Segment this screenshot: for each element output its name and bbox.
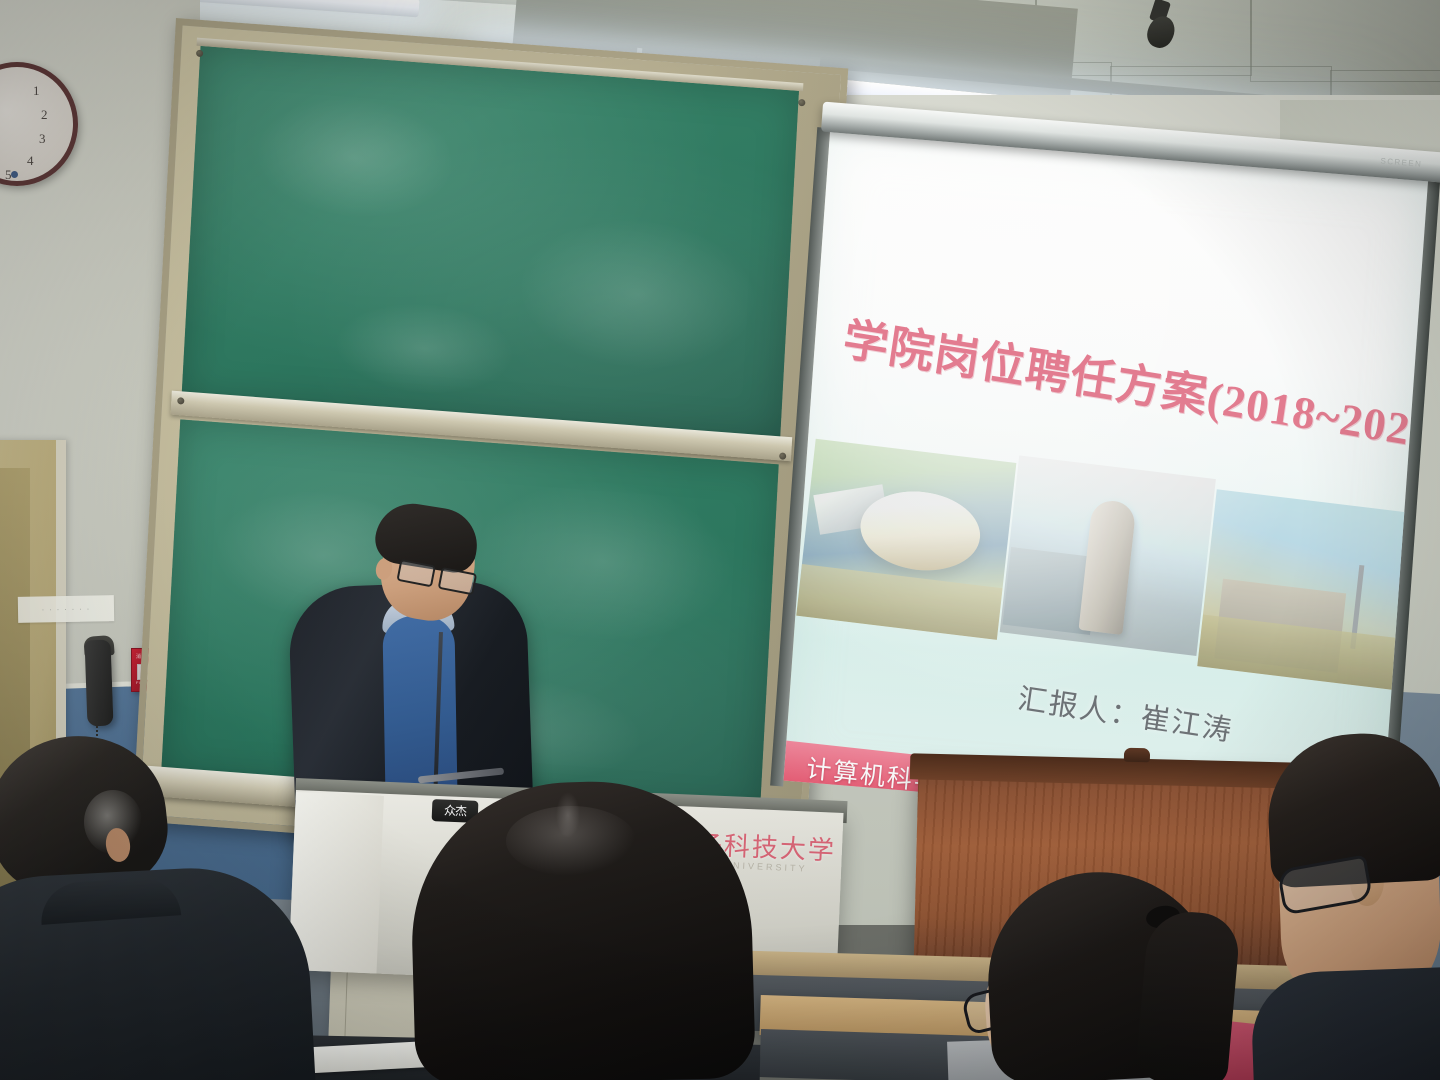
audience-center-hair-part: [556, 792, 580, 838]
slide-title: 学院岗位聘任方案(2018~2020)汇报: [840, 303, 1413, 457]
photo-aerial-campus: [796, 439, 1016, 640]
wall-notice-text: · · · · · · ·: [18, 595, 114, 623]
chalkboard-upper-panel: [181, 46, 798, 442]
clock-hand: [11, 171, 18, 178]
wall-phone-handset[interactable]: [85, 640, 114, 727]
desk-knob: [1124, 748, 1150, 763]
slide-photo-strip: [791, 434, 1408, 695]
clock-numeral: 4: [27, 153, 34, 169]
projected-slide: 学院岗位聘任方案(2018~2020)汇报 汇报人：崔江涛 计算机科学与技术学院: [784, 130, 1429, 829]
classroom-photograph: · · · · · · · 消火栓 FIRE ALARM 1 2 3 4 5: [0, 0, 1440, 1080]
clock-numeral: 2: [41, 107, 48, 123]
audience-ponytail-tail: [1135, 908, 1242, 1080]
clock-numeral: 3: [39, 131, 46, 147]
photo-monument: [1000, 455, 1216, 656]
screen-brand-label: SCREEN: [1380, 156, 1422, 168]
photo-campus-buildings: [1197, 489, 1411, 689]
clock-numeral: 1: [33, 83, 40, 99]
wall-notice-strip: · · · · · · ·: [18, 595, 114, 623]
